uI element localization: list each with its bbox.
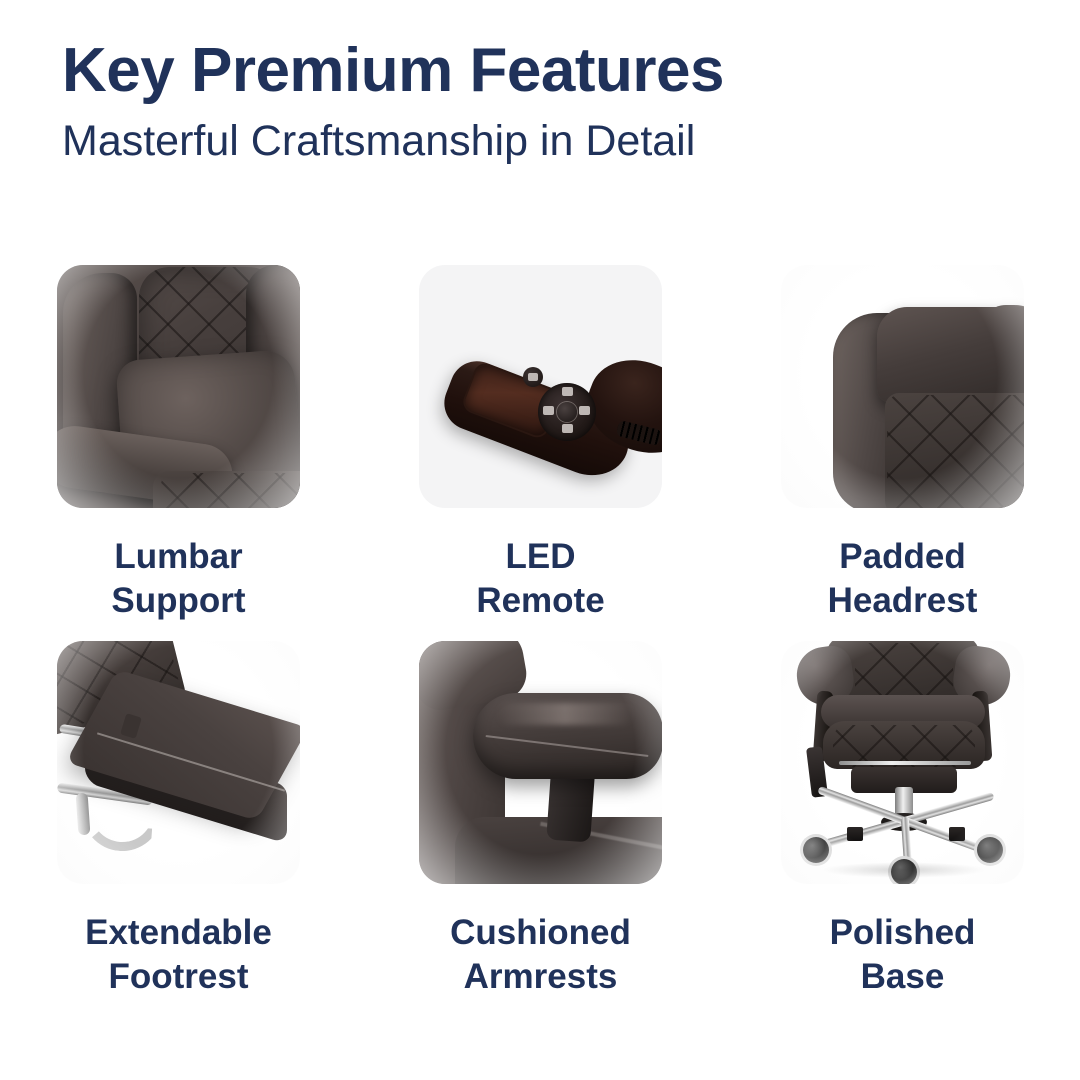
- remote-button-up-icon: [562, 387, 573, 396]
- caster-wheel: [803, 837, 829, 863]
- feature-caption-extendable-footrest: Extendable Footrest: [85, 911, 272, 1000]
- footrest-chrome-rail: [839, 761, 971, 765]
- diamond-quilting-pattern: [887, 395, 1024, 508]
- remote-button-left-icon: [543, 406, 554, 415]
- page-header: Key Premium Features Masterful Craftsman…: [62, 38, 1022, 167]
- floor-shadow: [821, 862, 987, 878]
- feature-caption-padded-headrest: Padded Headrest: [828, 535, 978, 624]
- feature-image-extendable-footrest: [57, 641, 300, 884]
- remote-button-down-icon: [562, 424, 573, 433]
- feature-image-led-remote: [419, 265, 662, 508]
- page-title: Key Premium Features: [62, 38, 1022, 103]
- feature-caption-polished-base: Polished Base: [830, 911, 976, 1000]
- feature-image-cushioned-armrests: [419, 641, 662, 884]
- caster-mount-clip: [949, 827, 965, 841]
- feature-card-padded-headrest: Padded Headrest: [781, 265, 1024, 624]
- remote-button-right-icon: [579, 406, 590, 415]
- caster-mount-clip: [847, 827, 863, 841]
- seat-quilting-pattern: [161, 473, 300, 508]
- feature-caption-cushioned-armrests: Cushioned Armrests: [450, 911, 631, 1000]
- remote-power-button: [523, 367, 543, 387]
- feature-card-polished-base: Polished Base: [781, 641, 1024, 1000]
- feature-card-extendable-footrest: Extendable Footrest: [57, 641, 300, 1000]
- armrest-highlight: [497, 703, 633, 725]
- feature-card-cushioned-armrests: Cushioned Armrests: [419, 641, 662, 1000]
- feature-image-padded-headrest: [781, 265, 1024, 508]
- feature-caption-lumbar-support: Lumbar Support: [111, 535, 245, 624]
- chrome-hook-bracket: [80, 804, 163, 853]
- feature-caption-led-remote: LED Remote: [476, 535, 604, 624]
- feature-image-lumbar-support: [57, 265, 300, 508]
- feature-card-led-remote: LED Remote: [419, 265, 662, 624]
- caster-wheel: [977, 837, 1003, 863]
- feature-card-lumbar-support: Lumbar Support: [57, 265, 300, 624]
- feature-grid: Lumbar Support LED Remote: [57, 265, 1023, 1000]
- feature-image-polished-base: [781, 641, 1024, 884]
- padded-headrest: [877, 307, 1024, 403]
- page-subtitle: Masterful Craftsmanship in Detail: [62, 117, 1022, 166]
- remote-center-button: [557, 402, 577, 422]
